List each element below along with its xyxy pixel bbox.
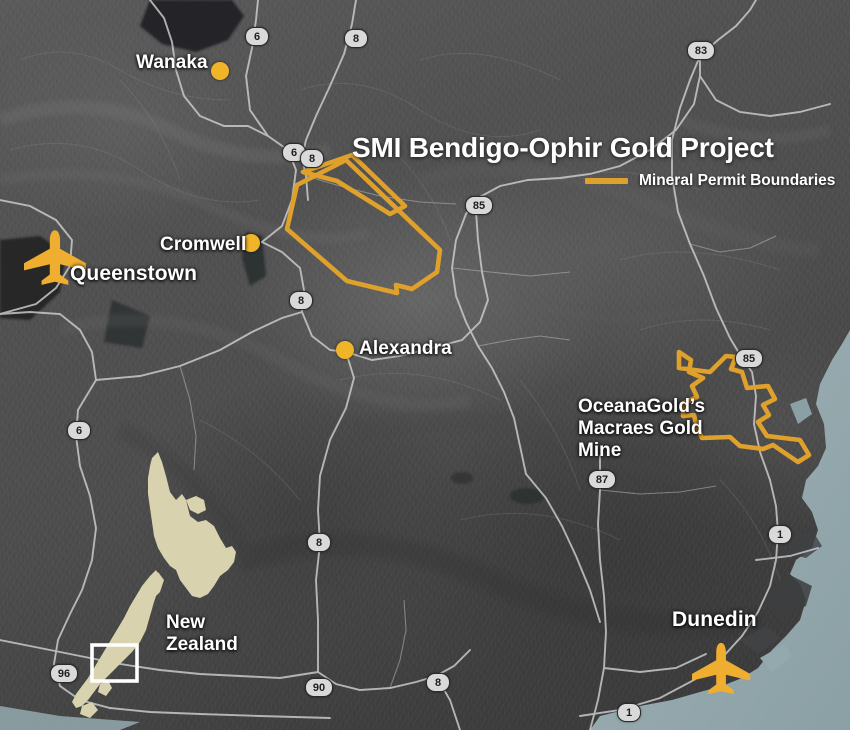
- highway-shield-8-cromwell[interactable]: 8: [300, 149, 324, 168]
- city-label-queenstown: Queenstown: [70, 262, 197, 286]
- city-marker-alexandra[interactable]: [336, 341, 354, 359]
- highway-shield-6[interactable]: 6: [245, 27, 269, 46]
- highway-shield-8[interactable]: 8: [344, 29, 368, 48]
- highway-shield-83[interactable]: 83: [687, 41, 715, 60]
- permit-boundary-bendigo-main[interactable]: [287, 160, 440, 293]
- city-label-cromwell: Cromwell: [160, 234, 246, 256]
- macraes-line-3: Mine: [578, 440, 705, 462]
- annotation-new-zealand: New Zealand: [166, 612, 238, 656]
- highway-shield-8-alexandra[interactable]: 8: [289, 291, 313, 310]
- highway-shield-85-macraes[interactable]: 85: [735, 349, 763, 368]
- city-label-dunedin: Dunedin: [672, 608, 757, 632]
- highway-shield-8-south[interactable]: 8: [307, 533, 331, 552]
- legend-label-permit-boundary: Mineral Permit Boundaries: [639, 172, 835, 190]
- macraes-line-2: Macraes Gold: [578, 418, 705, 440]
- highway-shield-1-bottom[interactable]: 1: [617, 703, 641, 722]
- map-title: SMI Bendigo-Ophir Gold Project: [352, 132, 774, 164]
- highway-shield-87[interactable]: 87: [588, 470, 616, 489]
- airport-icon-dunedin[interactable]: [692, 640, 754, 700]
- new-zealand-line-1: New: [166, 612, 238, 634]
- highway-shield-85-north[interactable]: 85: [465, 196, 493, 215]
- macraes-line-1: OceanaGold’s: [578, 396, 705, 418]
- airplane-glyph: [692, 640, 754, 696]
- city-label-wanaka: Wanaka: [136, 52, 208, 74]
- highway-shield-6-west[interactable]: 6: [67, 421, 91, 440]
- map-container: SMI Bendigo-Ophir Gold Project Mineral P…: [0, 0, 850, 730]
- highway-shield-1-coast[interactable]: 1: [768, 525, 792, 544]
- highway-shield-8-bottom[interactable]: 8: [426, 673, 450, 692]
- city-marker-wanaka[interactable]: [211, 62, 229, 80]
- annotation-macraes-mine: OceanaGold’s Macraes Gold Mine: [578, 396, 705, 463]
- legend-swatch-permit-boundary: [585, 178, 628, 184]
- city-label-alexandra: Alexandra: [359, 338, 452, 360]
- highway-shield-90[interactable]: 90: [305, 678, 333, 697]
- legend: Mineral Permit Boundaries: [585, 172, 835, 190]
- new-zealand-line-2: Zealand: [166, 634, 238, 656]
- highway-shield-96[interactable]: 96: [50, 664, 78, 683]
